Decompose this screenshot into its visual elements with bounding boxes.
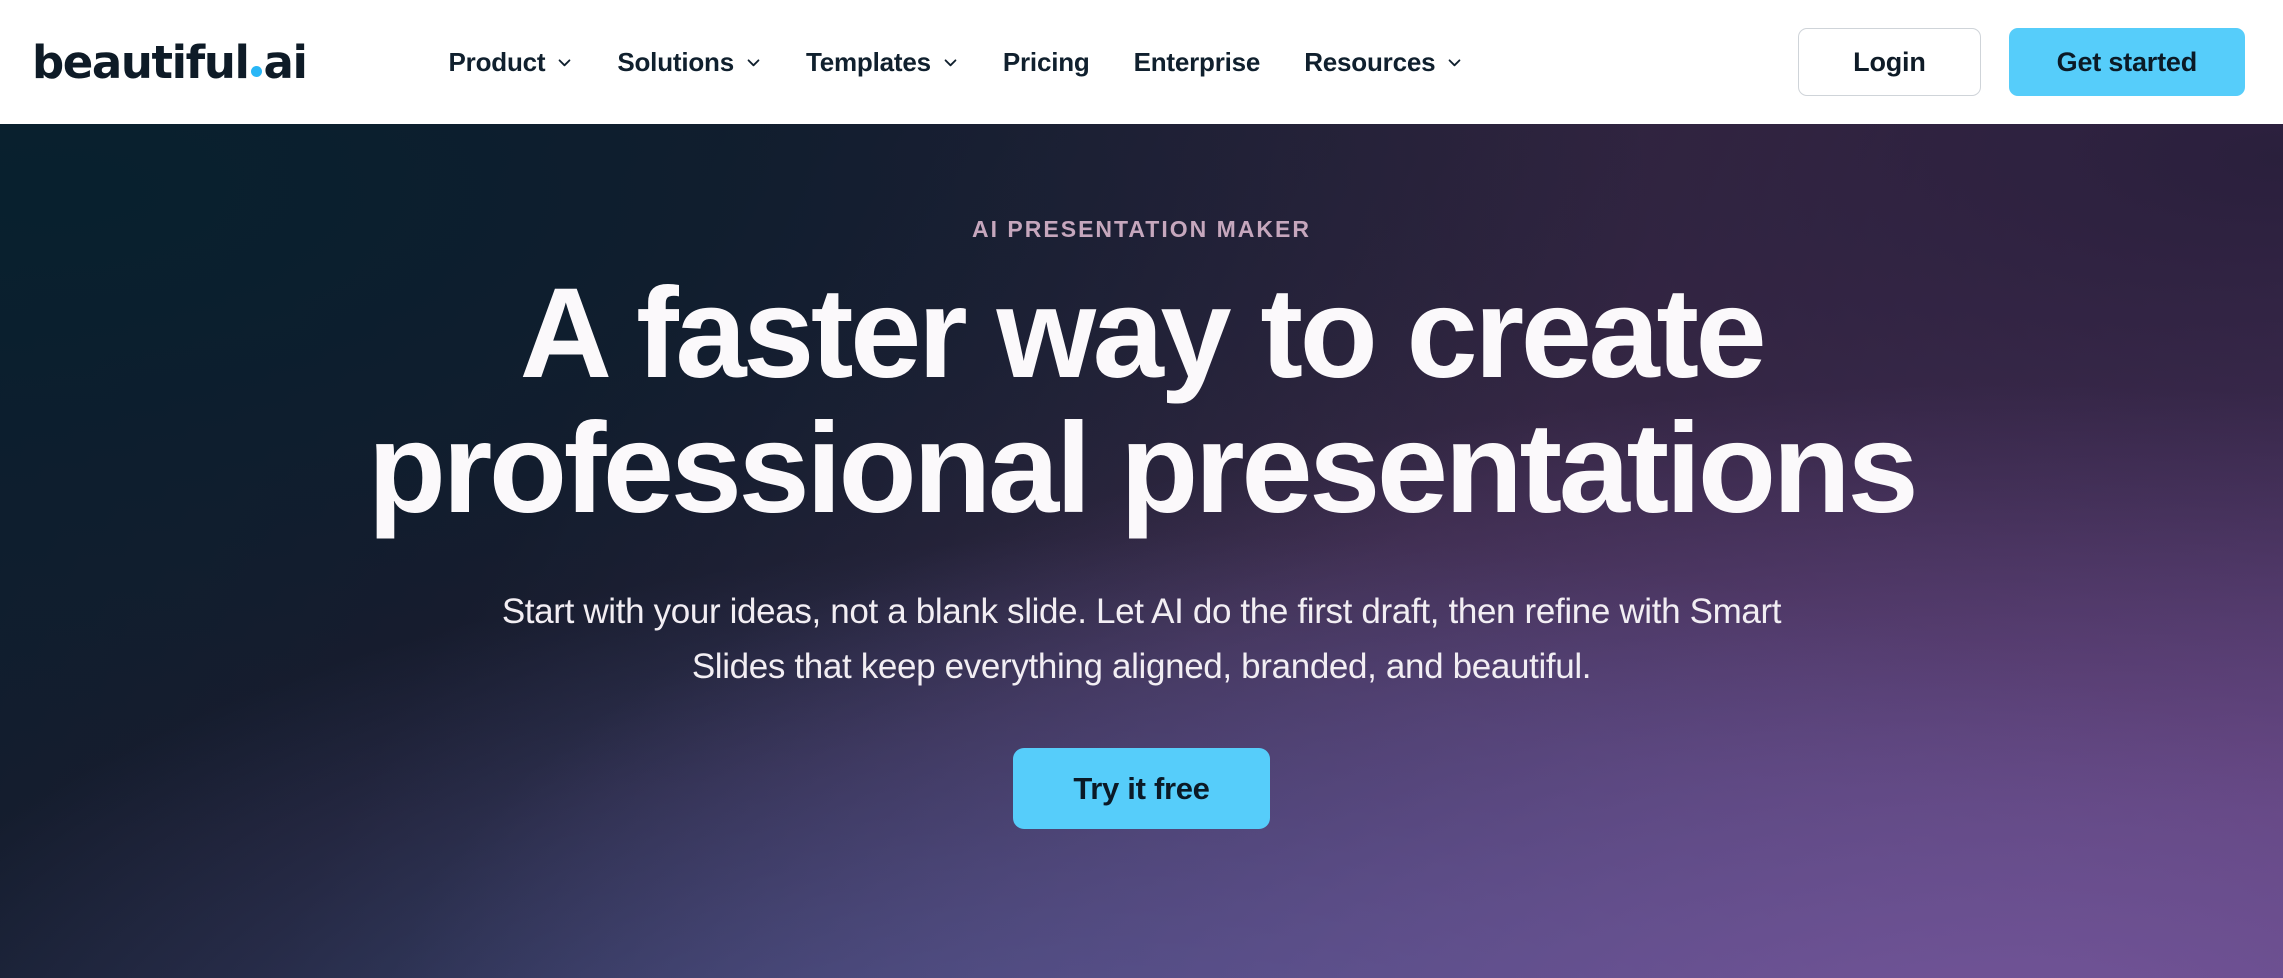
nav-item-resources[interactable]: Resources — [1282, 37, 1485, 88]
nav-item-label: Templates — [806, 47, 931, 78]
nav-item-label: Product — [449, 47, 546, 78]
nav-item-enterprise[interactable]: Enterprise — [1112, 37, 1283, 88]
brand-dot-icon — [251, 66, 262, 77]
nav-item-label: Resources — [1304, 47, 1435, 78]
hero-subheading: Start with your ideas, not a blank slide… — [487, 585, 1797, 694]
chevron-down-icon — [745, 54, 762, 71]
chevron-down-icon — [1446, 54, 1463, 71]
hero-cta-container: Try it free — [162, 748, 2122, 829]
chevron-down-icon — [556, 54, 573, 71]
nav-item-product[interactable]: Product — [427, 37, 596, 88]
nav-item-label: Pricing — [1003, 47, 1090, 78]
header-actions: Login Get started — [1798, 28, 2245, 96]
nav-item-templates[interactable]: Templates — [784, 37, 981, 88]
brand-name-main: beautiful — [32, 40, 249, 85]
primary-navigation: Product Solutions Templates Pricing — [427, 37, 1799, 88]
nav-item-pricing[interactable]: Pricing — [981, 37, 1112, 88]
page-title: A faster way to create professional pres… — [162, 266, 2122, 537]
chevron-down-icon — [942, 54, 959, 71]
nav-item-solutions[interactable]: Solutions — [595, 37, 784, 88]
get-started-button[interactable]: Get started — [2009, 28, 2245, 96]
nav-item-label: Enterprise — [1134, 47, 1261, 78]
headline-line-2: professional presentations — [368, 397, 1916, 540]
brand-logo[interactable]: beautiful ai — [32, 40, 307, 85]
page-root: beautiful ai Product Solutions Templates — [0, 0, 2283, 978]
nav-item-label: Solutions — [617, 47, 734, 78]
site-header: beautiful ai Product Solutions Templates — [0, 0, 2283, 124]
headline-line-1: A faster way to create — [520, 262, 1764, 405]
login-button[interactable]: Login — [1798, 28, 1980, 96]
brand-name-suffix: ai — [264, 40, 307, 85]
hero-eyebrow: AI PRESENTATION MAKER — [162, 216, 2122, 244]
try-it-free-button[interactable]: Try it free — [1013, 748, 1269, 829]
hero-section: AI PRESENTATION MAKER A faster way to cr… — [0, 124, 2283, 978]
hero-content: AI PRESENTATION MAKER A faster way to cr… — [162, 124, 2122, 829]
